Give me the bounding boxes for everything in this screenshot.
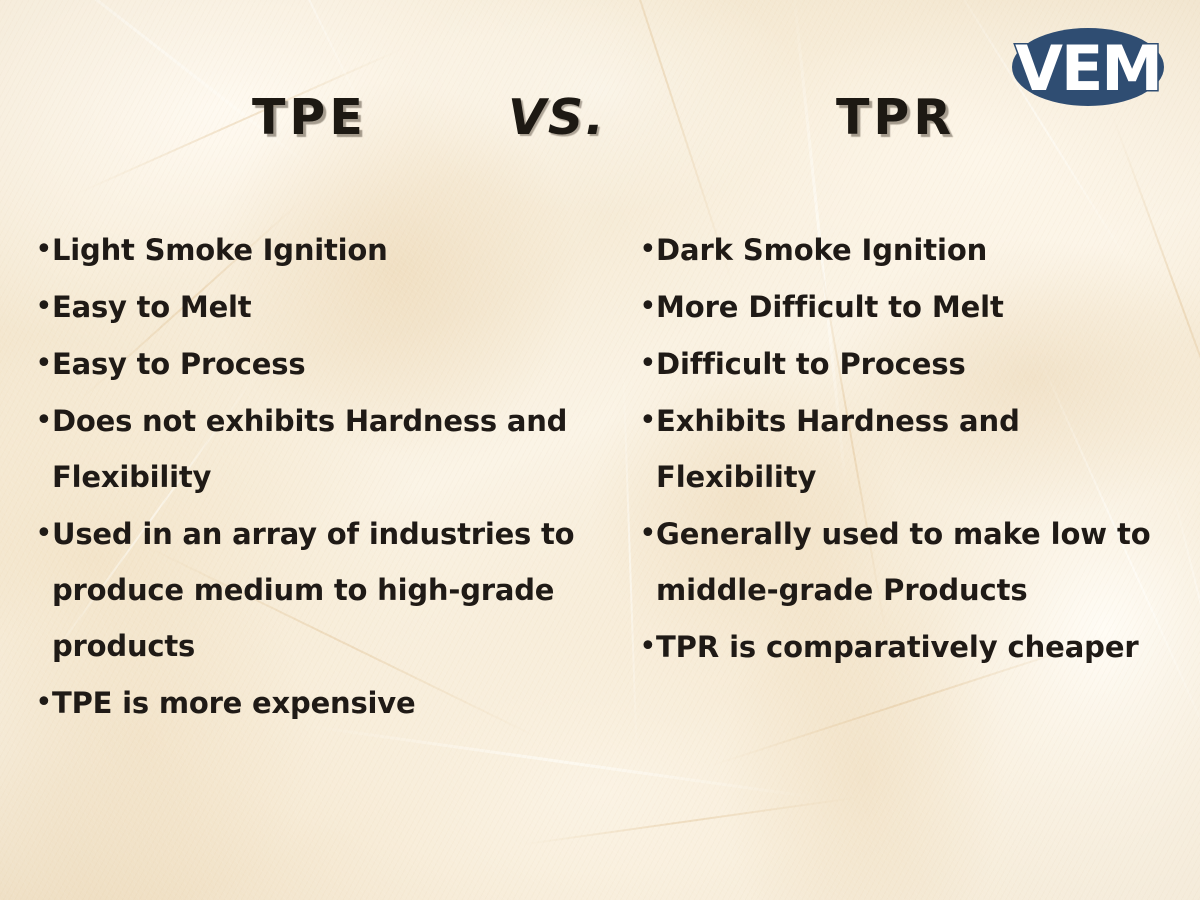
bullet-icon: • (26, 222, 52, 278)
poster-canvas: VEM TPE VS. TPR • Light Smoke Ignition •… (0, 0, 1200, 900)
list-item: • Difficult to Process (630, 336, 1190, 392)
bullet-icon: • (26, 506, 52, 562)
list-item-label: TPE is more expensive (52, 675, 636, 731)
list-item: • TPE is more expensive (26, 675, 636, 731)
list-item-label: More Difficult to Melt (656, 279, 1190, 335)
column-tpr: • Dark Smoke Ignition • More Difficult t… (630, 222, 1190, 676)
heading-versus: VS. (508, 92, 606, 144)
column-tpe: • Light Smoke Ignition • Easy to Melt • … (26, 222, 636, 732)
bullet-icon: • (26, 336, 52, 392)
list-item-label: Exhibits Hardness and Flexibility (656, 393, 1190, 505)
list-item: • Light Smoke Ignition (26, 222, 636, 278)
bullet-icon: • (630, 619, 656, 675)
bullet-icon: • (26, 393, 52, 449)
bullet-icon: • (630, 506, 656, 562)
list-item: • Easy to Process (26, 336, 636, 392)
list-item-label: Generally used to make low to middle-gra… (656, 506, 1190, 618)
heading-tpr: TPR (836, 92, 955, 144)
list-item-label: Used in an array of industries to produc… (52, 506, 636, 674)
list-item: • Exhibits Hardness and Flexibility (630, 393, 1190, 505)
list-item: • More Difficult to Melt (630, 279, 1190, 335)
list-item-label: Does not exhibits Hardness and Flexibili… (52, 393, 636, 505)
list-item: • Does not exhibits Hardness and Flexibi… (26, 393, 636, 505)
list-item-label: Easy to Process (52, 336, 636, 392)
bullet-icon: • (630, 279, 656, 335)
list-item-label: Light Smoke Ignition (52, 222, 636, 278)
poster-content: VEM TPE VS. TPR • Light Smoke Ignition •… (0, 0, 1200, 900)
bullet-icon: • (26, 675, 52, 731)
bullet-icon: • (630, 222, 656, 278)
vem-logo-text: VEM (1008, 38, 1168, 100)
list-item-label: Difficult to Process (656, 336, 1190, 392)
list-item-label: TPR is comparatively cheaper (656, 619, 1190, 675)
list-item: • Dark Smoke Ignition (630, 222, 1190, 278)
bullet-icon: • (26, 279, 52, 335)
list-item: • TPR is comparatively cheaper (630, 619, 1190, 675)
heading-tpe: TPE (252, 92, 367, 144)
bullet-icon: • (630, 393, 656, 449)
list-item: • Easy to Melt (26, 279, 636, 335)
list-item-label: Easy to Melt (52, 279, 636, 335)
list-item: • Used in an array of industries to prod… (26, 506, 636, 674)
bullet-icon: • (630, 336, 656, 392)
vem-logo[interactable]: VEM (1008, 20, 1168, 112)
list-item-label: Dark Smoke Ignition (656, 222, 1190, 278)
list-item: • Generally used to make low to middle-g… (630, 506, 1190, 618)
